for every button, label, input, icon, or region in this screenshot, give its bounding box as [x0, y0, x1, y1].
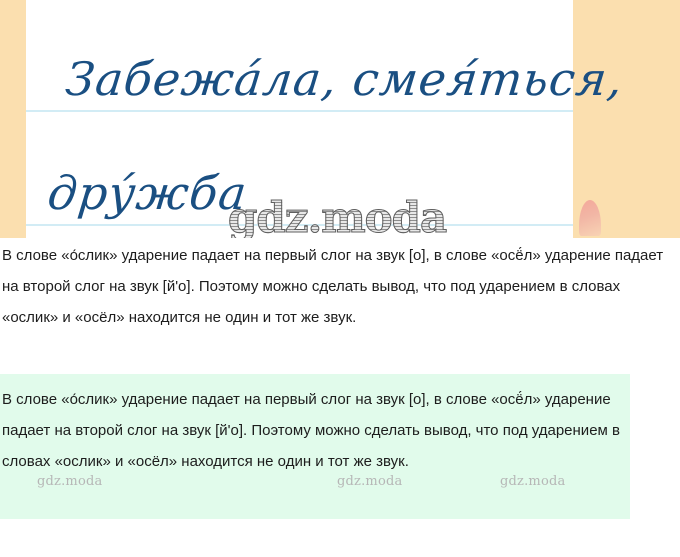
answer-plain-block: В слове «о́слик» ударение падает на перв…: [0, 240, 680, 333]
handwriting-line-1: Забежа́ла, смея́ться,: [63, 52, 626, 106]
watermark-large: gdz.moda: [228, 193, 446, 238]
handwriting-illustration: Забежа́ла, смея́ться, дру́жба gdz.moda: [0, 0, 680, 238]
watermark-small-1: gdz.moda: [37, 474, 102, 489]
notebook-rule-line: [26, 110, 573, 112]
answer-highlighted-text: В слове «о́слик» ударение падает на перв…: [0, 374, 630, 477]
ear-shape-icon: [579, 200, 601, 236]
handwriting-line-2: дру́жба: [45, 166, 250, 220]
answer-highlighted-block: В слове «о́слик» ударение падает на перв…: [0, 374, 630, 519]
watermark-small-3: gdz.moda: [500, 474, 565, 489]
answer-plain-text: В слове «о́слик» ударение падает на перв…: [0, 240, 680, 333]
watermark-small-2: gdz.moda: [337, 474, 402, 489]
